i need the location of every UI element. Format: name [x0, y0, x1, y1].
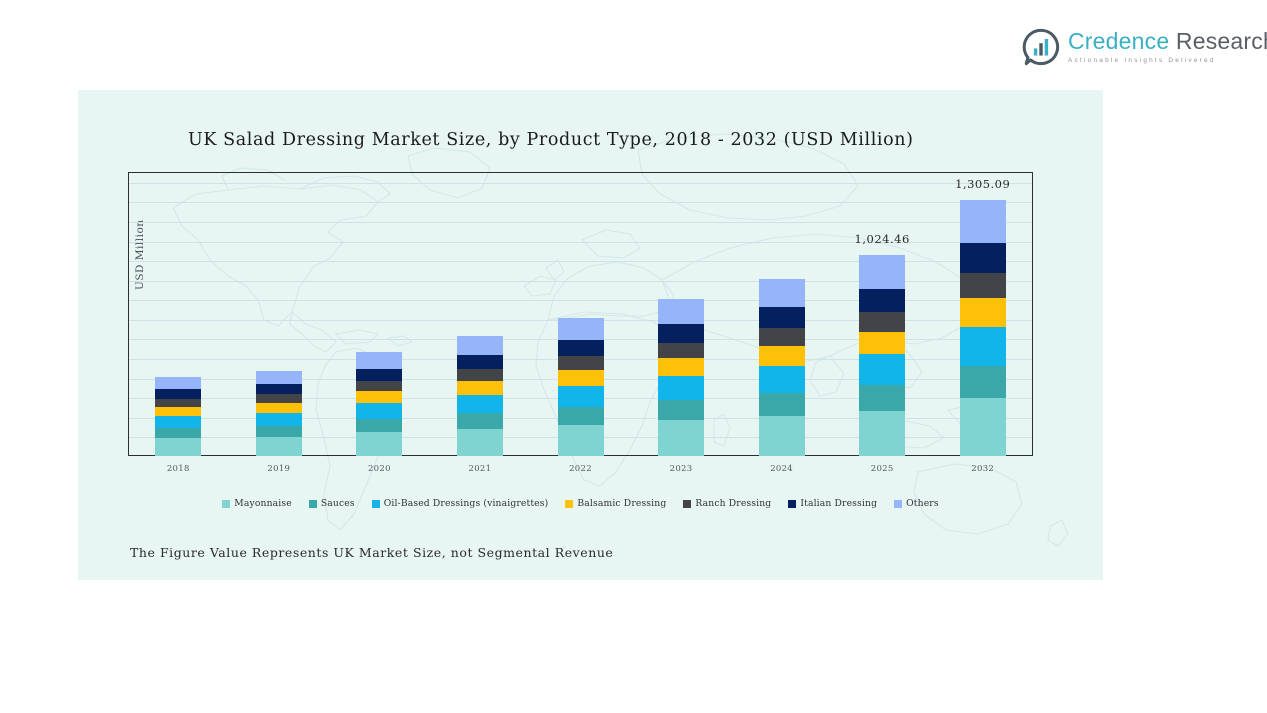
legend-label: Mayonnaise: [234, 498, 292, 509]
bar-segment[interactable]: [155, 407, 201, 416]
bar-segment[interactable]: [859, 255, 905, 288]
x-axis-tick: 2020: [339, 464, 419, 474]
bar-segment[interactable]: [658, 299, 704, 324]
bar-segment[interactable]: [859, 411, 905, 456]
x-axis-tick: 2022: [541, 464, 621, 474]
bar-segment[interactable]: [457, 429, 503, 456]
bar-segment[interactable]: [759, 366, 805, 393]
bar-stack[interactable]: [960, 200, 1006, 456]
bar-segment[interactable]: [356, 381, 402, 391]
bar-segment[interactable]: [155, 389, 201, 398]
chart-legend: MayonnaiseSaucesOil-Based Dressings (vin…: [128, 498, 1033, 509]
bar-segment[interactable]: [759, 279, 805, 307]
bar-segment[interactable]: [558, 318, 604, 340]
bar-segment[interactable]: [558, 356, 604, 370]
bar-segment[interactable]: [859, 354, 905, 385]
bar-segment[interactable]: [155, 399, 201, 407]
legend-label: Ranch Dressing: [695, 498, 771, 509]
legend-swatch: [788, 500, 796, 508]
brand-name-part2: Research: [1176, 28, 1267, 54]
brand-logo: Credence Research Actionable Insights De…: [1022, 24, 1246, 70]
bar-segment[interactable]: [759, 393, 805, 416]
bar-chart-circle-icon: [1022, 28, 1060, 66]
chart-footnote: The Figure Value Represents UK Market Si…: [130, 545, 613, 560]
legend-item[interactable]: Sauces: [309, 498, 355, 509]
bar-segment[interactable]: [356, 432, 402, 456]
legend-label: Italian Dressing: [800, 498, 877, 509]
bar-segment[interactable]: [960, 366, 1006, 399]
bar-segment[interactable]: [155, 416, 201, 428]
legend-swatch: [565, 500, 573, 508]
bar-segment[interactable]: [256, 371, 302, 385]
bar-segment[interactable]: [859, 289, 905, 312]
bar-segment[interactable]: [356, 419, 402, 432]
bar-segment[interactable]: [558, 340, 604, 356]
bar-segment[interactable]: [356, 369, 402, 381]
legend-item[interactable]: Others: [894, 498, 939, 509]
bar-segment[interactable]: [960, 243, 1006, 272]
bar-segment[interactable]: [356, 352, 402, 369]
legend-swatch: [894, 500, 902, 508]
bar-segment[interactable]: [759, 416, 805, 456]
bar-segment[interactable]: [558, 425, 604, 456]
bar-segment[interactable]: [759, 346, 805, 366]
bar-segment[interactable]: [256, 437, 302, 456]
legend-swatch: [309, 500, 317, 508]
bar-segment[interactable]: [658, 400, 704, 420]
legend-swatch: [683, 500, 691, 508]
bar-segment[interactable]: [960, 398, 1006, 456]
legend-item[interactable]: Balsamic Dressing: [565, 498, 666, 509]
bar-segment[interactable]: [155, 377, 201, 390]
brand-text: Credence Research Actionable Insights De…: [1068, 30, 1267, 64]
bar-stack[interactable]: [859, 255, 905, 456]
brand-name: Credence Research: [1068, 30, 1267, 53]
bar-segment[interactable]: [658, 324, 704, 342]
legend-item[interactable]: Italian Dressing: [788, 498, 877, 509]
bar-segment[interactable]: [658, 343, 704, 359]
bar-stack[interactable]: [256, 371, 302, 456]
legend-label: Oil-Based Dressings (vinaigrettes): [384, 498, 549, 509]
legend-swatch: [372, 500, 380, 508]
bar-segment[interactable]: [457, 413, 503, 428]
bar-segment[interactable]: [457, 381, 503, 395]
bar-segment[interactable]: [256, 413, 302, 426]
legend-label: Balsamic Dressing: [577, 498, 666, 509]
legend-swatch: [222, 500, 230, 508]
bar-segment[interactable]: [457, 355, 503, 369]
bar-value-label: 1,305.09: [908, 177, 1058, 191]
legend-item[interactable]: Oil-Based Dressings (vinaigrettes): [372, 498, 549, 509]
bar-stack[interactable]: [356, 352, 402, 456]
bar-segment[interactable]: [859, 312, 905, 332]
legend-label: Others: [906, 498, 939, 509]
x-axis-tick: 2032: [943, 464, 1023, 474]
bar-segment[interactable]: [960, 327, 1006, 366]
bar-segment[interactable]: [256, 384, 302, 394]
bar-segment[interactable]: [558, 407, 604, 425]
bar-segment[interactable]: [960, 200, 1006, 243]
bar-segment[interactable]: [759, 328, 805, 346]
bar-stack[interactable]: [558, 318, 604, 456]
x-axis-tick: 2023: [641, 464, 721, 474]
bar-segment[interactable]: [658, 358, 704, 376]
bar-segment[interactable]: [658, 420, 704, 456]
bar-segment[interactable]: [155, 428, 201, 438]
bar-segment[interactable]: [658, 376, 704, 400]
brand-name-part1: Credence: [1068, 28, 1169, 54]
bar-stack[interactable]: [759, 279, 805, 456]
bar-segment[interactable]: [356, 391, 402, 403]
x-axis-tick: 2024: [742, 464, 822, 474]
bar-segment[interactable]: [759, 307, 805, 328]
bar-stack[interactable]: [457, 336, 503, 456]
x-axis-tick: 2018: [138, 464, 218, 474]
bar-stack[interactable]: [155, 377, 201, 456]
bar-segment[interactable]: [558, 370, 604, 386]
bar-segment[interactable]: [960, 273, 1006, 299]
bar-stack[interactable]: [658, 299, 704, 456]
bar-segment[interactable]: [256, 426, 302, 437]
bar-segment[interactable]: [558, 386, 604, 407]
chart-title: UK Salad Dressing Market Size, by Produc…: [188, 130, 914, 150]
bar-segment[interactable]: [859, 332, 905, 355]
bar-series-container: 20182019202020212022202320241,024.462025…: [128, 172, 1033, 456]
x-axis-tick: 2021: [440, 464, 520, 474]
x-axis-tick: 2019: [239, 464, 319, 474]
bar-segment[interactable]: [457, 336, 503, 355]
bar-segment[interactable]: [356, 403, 402, 419]
bar-segment[interactable]: [859, 385, 905, 411]
brand-tagline: Actionable Insights Delivered: [1068, 58, 1267, 64]
bar-segment[interactable]: [256, 394, 302, 403]
legend-label: Sauces: [321, 498, 355, 509]
x-axis-tick: 2025: [842, 464, 922, 474]
bar-segment[interactable]: [155, 438, 201, 456]
chart-panel: UK Salad Dressing Market Size, by Produc…: [78, 90, 1103, 580]
bar-segment[interactable]: [457, 369, 503, 381]
bar-segment[interactable]: [960, 298, 1006, 327]
bar-segment[interactable]: [457, 395, 503, 413]
legend-item[interactable]: Ranch Dressing: [683, 498, 771, 509]
bar-segment[interactable]: [256, 403, 302, 413]
legend-item[interactable]: Mayonnaise: [222, 498, 292, 509]
bar-value-label: 1,024.46: [807, 232, 957, 246]
